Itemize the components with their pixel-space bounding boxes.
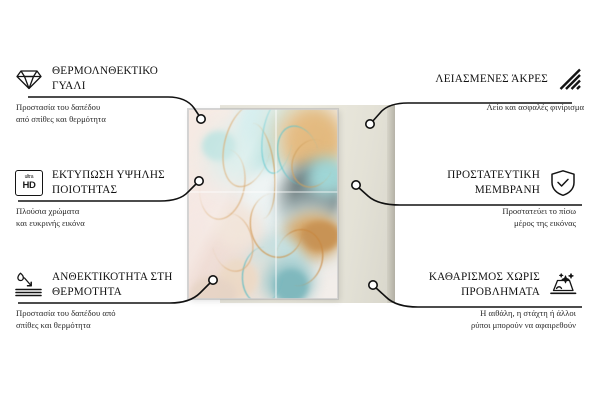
feature-easy-cleaning: ΚΑΘΑΡΙΣΜΟΣ ΧΩΡΙΣ ΠΡΟΒΛΗΜΑΤΑ Η αιθάλη, η … [400,268,578,331]
product-image [180,105,400,305]
feature-title: ΑΝΘΕΚΤΙΚΟΤΗΤΑ ΣΤΗ ΘΕΡΜΟΤΗΤΑ [52,270,192,300]
feature-title: ΠΡΟΣΤΑΤΕΥΤΙΚΗ ΜΕΜΒΡΑΝΗ [400,168,540,198]
feature-subtitle: Πλούσια χρώματακαι ευκρινής εικόνα [14,205,192,229]
feature-subtitle: Προστασία του δαπέδου απόσπίθες και θερμ… [14,307,192,331]
feature-title: ΕΚΤΥΠΩΣΗ ΥΨΗΛΗΣ ΠΟΙΟΤΗΤΑΣ [52,168,192,198]
product-glass-panel [188,109,338,299]
polished-edge-icon [556,64,586,94]
feature-heat-resistant-glass: ΘΕΡΜΟΛΝΘΕΚΤΙΚΟ ΓΥΑΛΙ Προστασία του δαπέδ… [14,62,192,125]
shield-check-icon [548,168,578,198]
feature-title: ΘΕΡΜΟΛΝΘΕΚΤΙΚΟ ΓΥΑΛΙ [52,64,192,94]
feature-subtitle: Λείο και ασφαλές φινίρισμα [408,101,586,113]
badge-bottom-label: HD [22,181,35,191]
flame-deflect-icon [14,270,44,300]
feature-protective-membrane: ΠΡΟΣΤΑΤΕΥΤΙΚΗ ΜΕΜΒΡΑΝΗ Προστατεύει το πί… [400,166,578,229]
feature-title: ΚΑΘΑΡΙΣΜΟΣ ΧΩΡΙΣ ΠΡΟΒΛΗΜΑΤΑ [400,270,540,300]
feature-subtitle: Η αιθάλη, η στάχτη ή άλλοιρύποι μπορούν … [400,307,578,331]
feature-subtitle: Προστασία του δαπέδουαπό σπίθες και θερμ… [14,101,192,125]
product-feature-infographic: ΘΕΡΜΟΛΝΘΕΚΤΙΚΟ ΓΥΑΛΙ Προστασία του δαπέδ… [0,0,600,400]
sponge-sparkle-icon [548,270,578,300]
feature-high-quality-print: ultra HD ΕΚΤΥΠΩΣΗ ΥΨΗΛΗΣ ΠΟΙΟΤΗΤΑΣ Πλούσ… [14,166,192,229]
ultra-hd-badge-icon: ultra HD [14,168,44,198]
feature-title: ΛΕΙΑΣΜΕΝΕΣ ΆΚΡΕΣ [435,72,548,87]
feature-heat-durability: ΑΝΘΕΚΤΙΚΟΤΗΤΑ ΣΤΗ ΘΕΡΜΟΤΗΤΑ Προστασία το… [14,268,192,331]
feature-polished-edges: ΛΕΙΑΣΜΕΝΕΣ ΆΚΡΕΣ Λείο και ασφαλές φινίρι… [408,62,586,113]
diamond-icon [14,64,44,94]
feature-subtitle: Προστατεύει το πίσωμέρος της εικόνας [400,205,578,229]
